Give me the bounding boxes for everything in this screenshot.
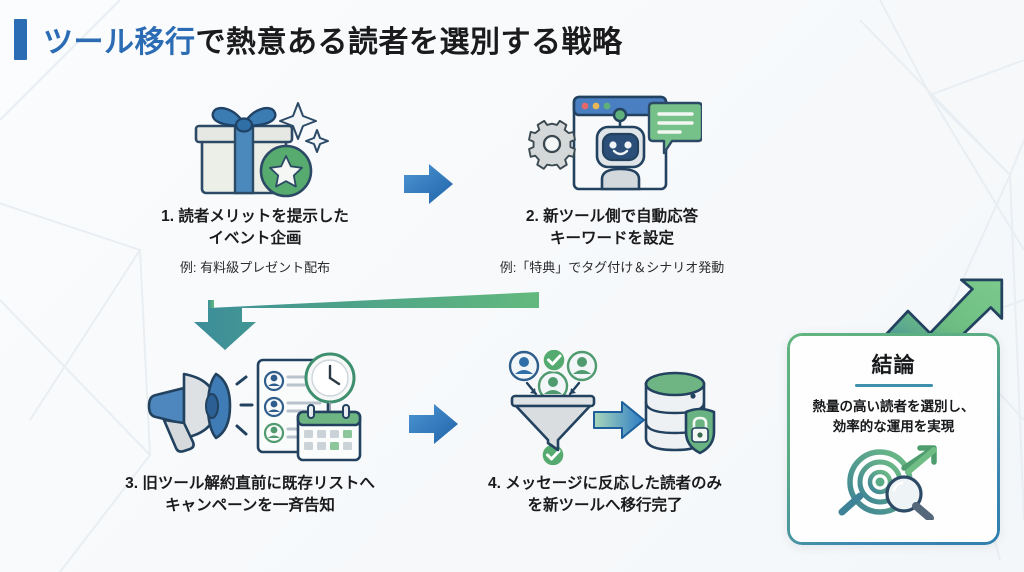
step-1: 1. 読者メリットを提示した イベント企画 例: 有料級プレゼント配布	[95, 82, 415, 276]
title-accent-bar	[14, 19, 27, 60]
slide-canvas: ツール移行で熱意ある読者を選別する戦略	[0, 0, 1024, 572]
conclusion-heading: 結論	[872, 349, 916, 379]
funnel-database-lock-icon	[430, 350, 780, 465]
step-3-title: 3. 旧ツール解約直前に既存リストへ キャンペーンを一斉告知	[60, 473, 440, 517]
step-4-title: 4. メッセージに反応した読者のみ を新ツールへ移行完了	[430, 473, 780, 517]
title-rest: で熱意ある読者を選別する戦略	[196, 26, 623, 59]
step-1-subtitle: 例: 有料級プレゼント配布	[95, 257, 415, 276]
title-text: ツール移行で熱意ある読者を選別する戦略	[43, 17, 623, 61]
arrow-right-icon	[403, 396, 463, 452]
megaphone-contact-list-icon	[60, 350, 440, 465]
step-3: 3. 旧ツール解約直前に既存リストへ キャンペーンを一斉告知	[60, 350, 440, 517]
title-highlight: ツール移行	[43, 26, 196, 59]
step-2: 2. 新ツール側で自動応答 キーワードを設定 例:「特典」でタグ付け＆シナリオ発…	[440, 82, 784, 276]
arrow-right-icon	[398, 156, 458, 212]
conclusion-card-inner: 結論 熱量の高い読者を選別し、 効率的な運用を実現	[790, 336, 997, 542]
step-4: 4. メッセージに反応した読者のみ を新ツールへ移行完了	[430, 350, 780, 517]
gift-box-star-icon	[95, 82, 415, 202]
step-2-title: 2. 新ツール側で自動応答 キーワードを設定	[440, 206, 784, 250]
chatbot-automation-icon	[440, 82, 784, 202]
conclusion-divider	[855, 384, 933, 387]
conclusion-body: 熱量の高い読者を選別し、 効率的な運用を実現	[813, 397, 975, 438]
step-1-title: 1. 読者メリットを提示した イベント企画	[95, 206, 415, 250]
elbow-arrow-down-icon	[180, 292, 580, 352]
step-2-subtitle: 例:「特典」でタグ付け＆シナリオ発動	[440, 257, 784, 276]
conclusion-card: 結論 熱量の高い読者を選別し、 効率的な運用を実現	[787, 333, 1000, 545]
target-magnifier-growth-icon	[834, 442, 954, 525]
page-title: ツール移行で熱意ある読者を選別する戦略	[14, 17, 623, 61]
